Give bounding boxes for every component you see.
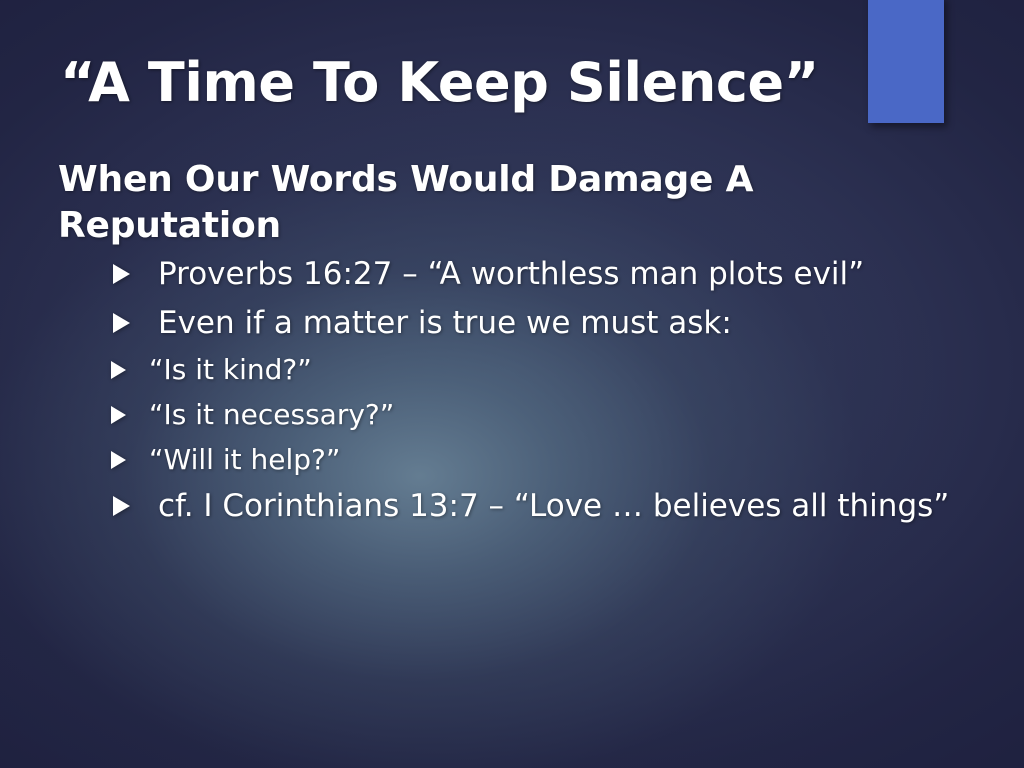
triangle-right-icon: [113, 264, 130, 284]
sub-bullet-list: “Is it kind?” “Is it necessary?” “Will i…: [58, 352, 993, 477]
presentation-slide: “A Time To Keep Silence” When Our Words …: [0, 0, 1024, 768]
triangle-right-icon: [113, 496, 130, 516]
sub-bullet-item: “Is it kind?”: [111, 352, 993, 387]
slide-title: “A Time To Keep Silence”: [60, 54, 860, 111]
bullet-item: Even if a matter is true we must ask:: [113, 304, 993, 343]
bullet-list: Proverbs 16:27 – “A worthless man plots …: [58, 255, 993, 526]
triangle-right-icon: [111, 451, 126, 469]
bullet-item: Proverbs 16:27 – “A worthless man plots …: [113, 255, 993, 294]
bullet-text: Proverbs 16:27 – “A worthless man plots …: [158, 256, 864, 292]
triangle-right-icon: [113, 313, 130, 333]
sub-bullet-item: “Is it necessary?”: [111, 397, 993, 432]
bullet-text: Even if a matter is true we must ask:: [158, 305, 732, 341]
sub-bullet-text: “Is it kind?”: [149, 353, 312, 386]
bullet-item: cf. I Corinthians 13:7 – “Love … believe…: [113, 487, 993, 526]
sub-bullet-text: “Will it help?”: [149, 443, 340, 476]
sub-bullet-group: “Is it kind?” “Is it necessary?” “Will i…: [58, 352, 993, 477]
triangle-right-icon: [111, 361, 126, 379]
bullet-text: cf. I Corinthians 13:7 – “Love … believe…: [158, 488, 949, 524]
sub-bullet-text: “Is it necessary?”: [149, 398, 394, 431]
triangle-right-icon: [111, 406, 126, 424]
slide-heading: When Our Words Would Damage A Reputation: [58, 157, 848, 249]
sub-bullet-item: “Will it help?”: [111, 442, 993, 477]
slide-body: When Our Words Would Damage A Reputation…: [58, 157, 993, 535]
accent-bar-decoration: [868, 0, 944, 123]
